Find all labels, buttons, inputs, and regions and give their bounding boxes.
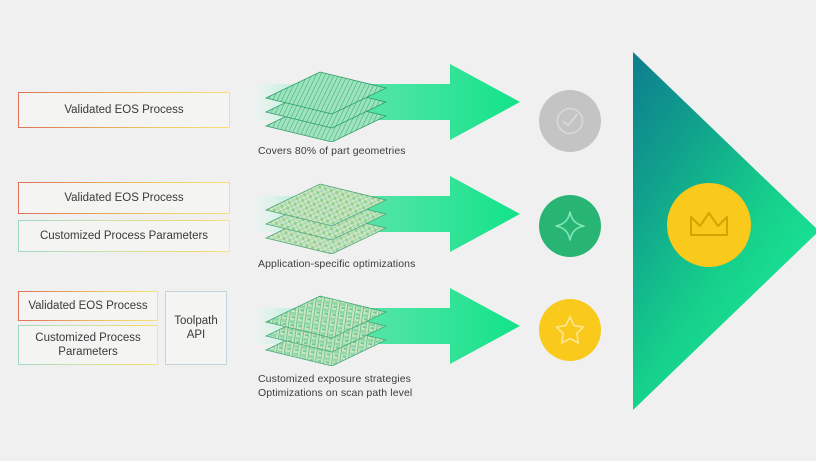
crown-badge[interactable] [667,183,751,267]
diagram-canvas: Validated EOS Process Covers 80% of part… [0,0,816,461]
validated-eos-process-box-2[interactable]: Validated EOS Process [18,182,230,214]
toolpath-api-box[interactable]: Toolpath API [165,291,227,365]
five-point-star-icon [552,312,588,348]
validated-eos-process-box-1[interactable]: Validated EOS Process [18,92,230,128]
box-label: Validated EOS Process [64,103,183,117]
powder-layer-stack-row-2 [258,178,394,254]
box-label: Validated EOS Process [64,191,183,205]
caption-row-2: Application-specific optimizations [258,258,415,272]
validated-eos-process-box-3[interactable]: Validated EOS Process [18,291,158,321]
check-circle-icon [553,104,587,138]
star-badge[interactable] [539,299,601,361]
crown-icon [686,205,732,245]
check-badge[interactable] [539,90,601,152]
customized-process-parameters-box-1[interactable]: Customized Process Parameters [18,220,230,252]
caption-row-3: Customized exposure strategies Optimizat… [258,373,412,400]
box-label: Customized Process Parameters [40,229,208,243]
caption-row-1: Covers 80% of part geometries [258,145,406,159]
four-point-star-icon [552,208,588,244]
box-label: Toolpath API [174,314,217,343]
sparkle-badge[interactable] [539,195,601,257]
powder-layer-stack-row-3 [258,290,394,366]
customized-process-parameters-box-2[interactable]: Customized Process Parameters [18,325,158,365]
box-label: Customized Process Parameters [35,331,140,360]
box-label: Validated EOS Process [28,299,147,313]
powder-layer-stack-row-1 [258,66,394,142]
